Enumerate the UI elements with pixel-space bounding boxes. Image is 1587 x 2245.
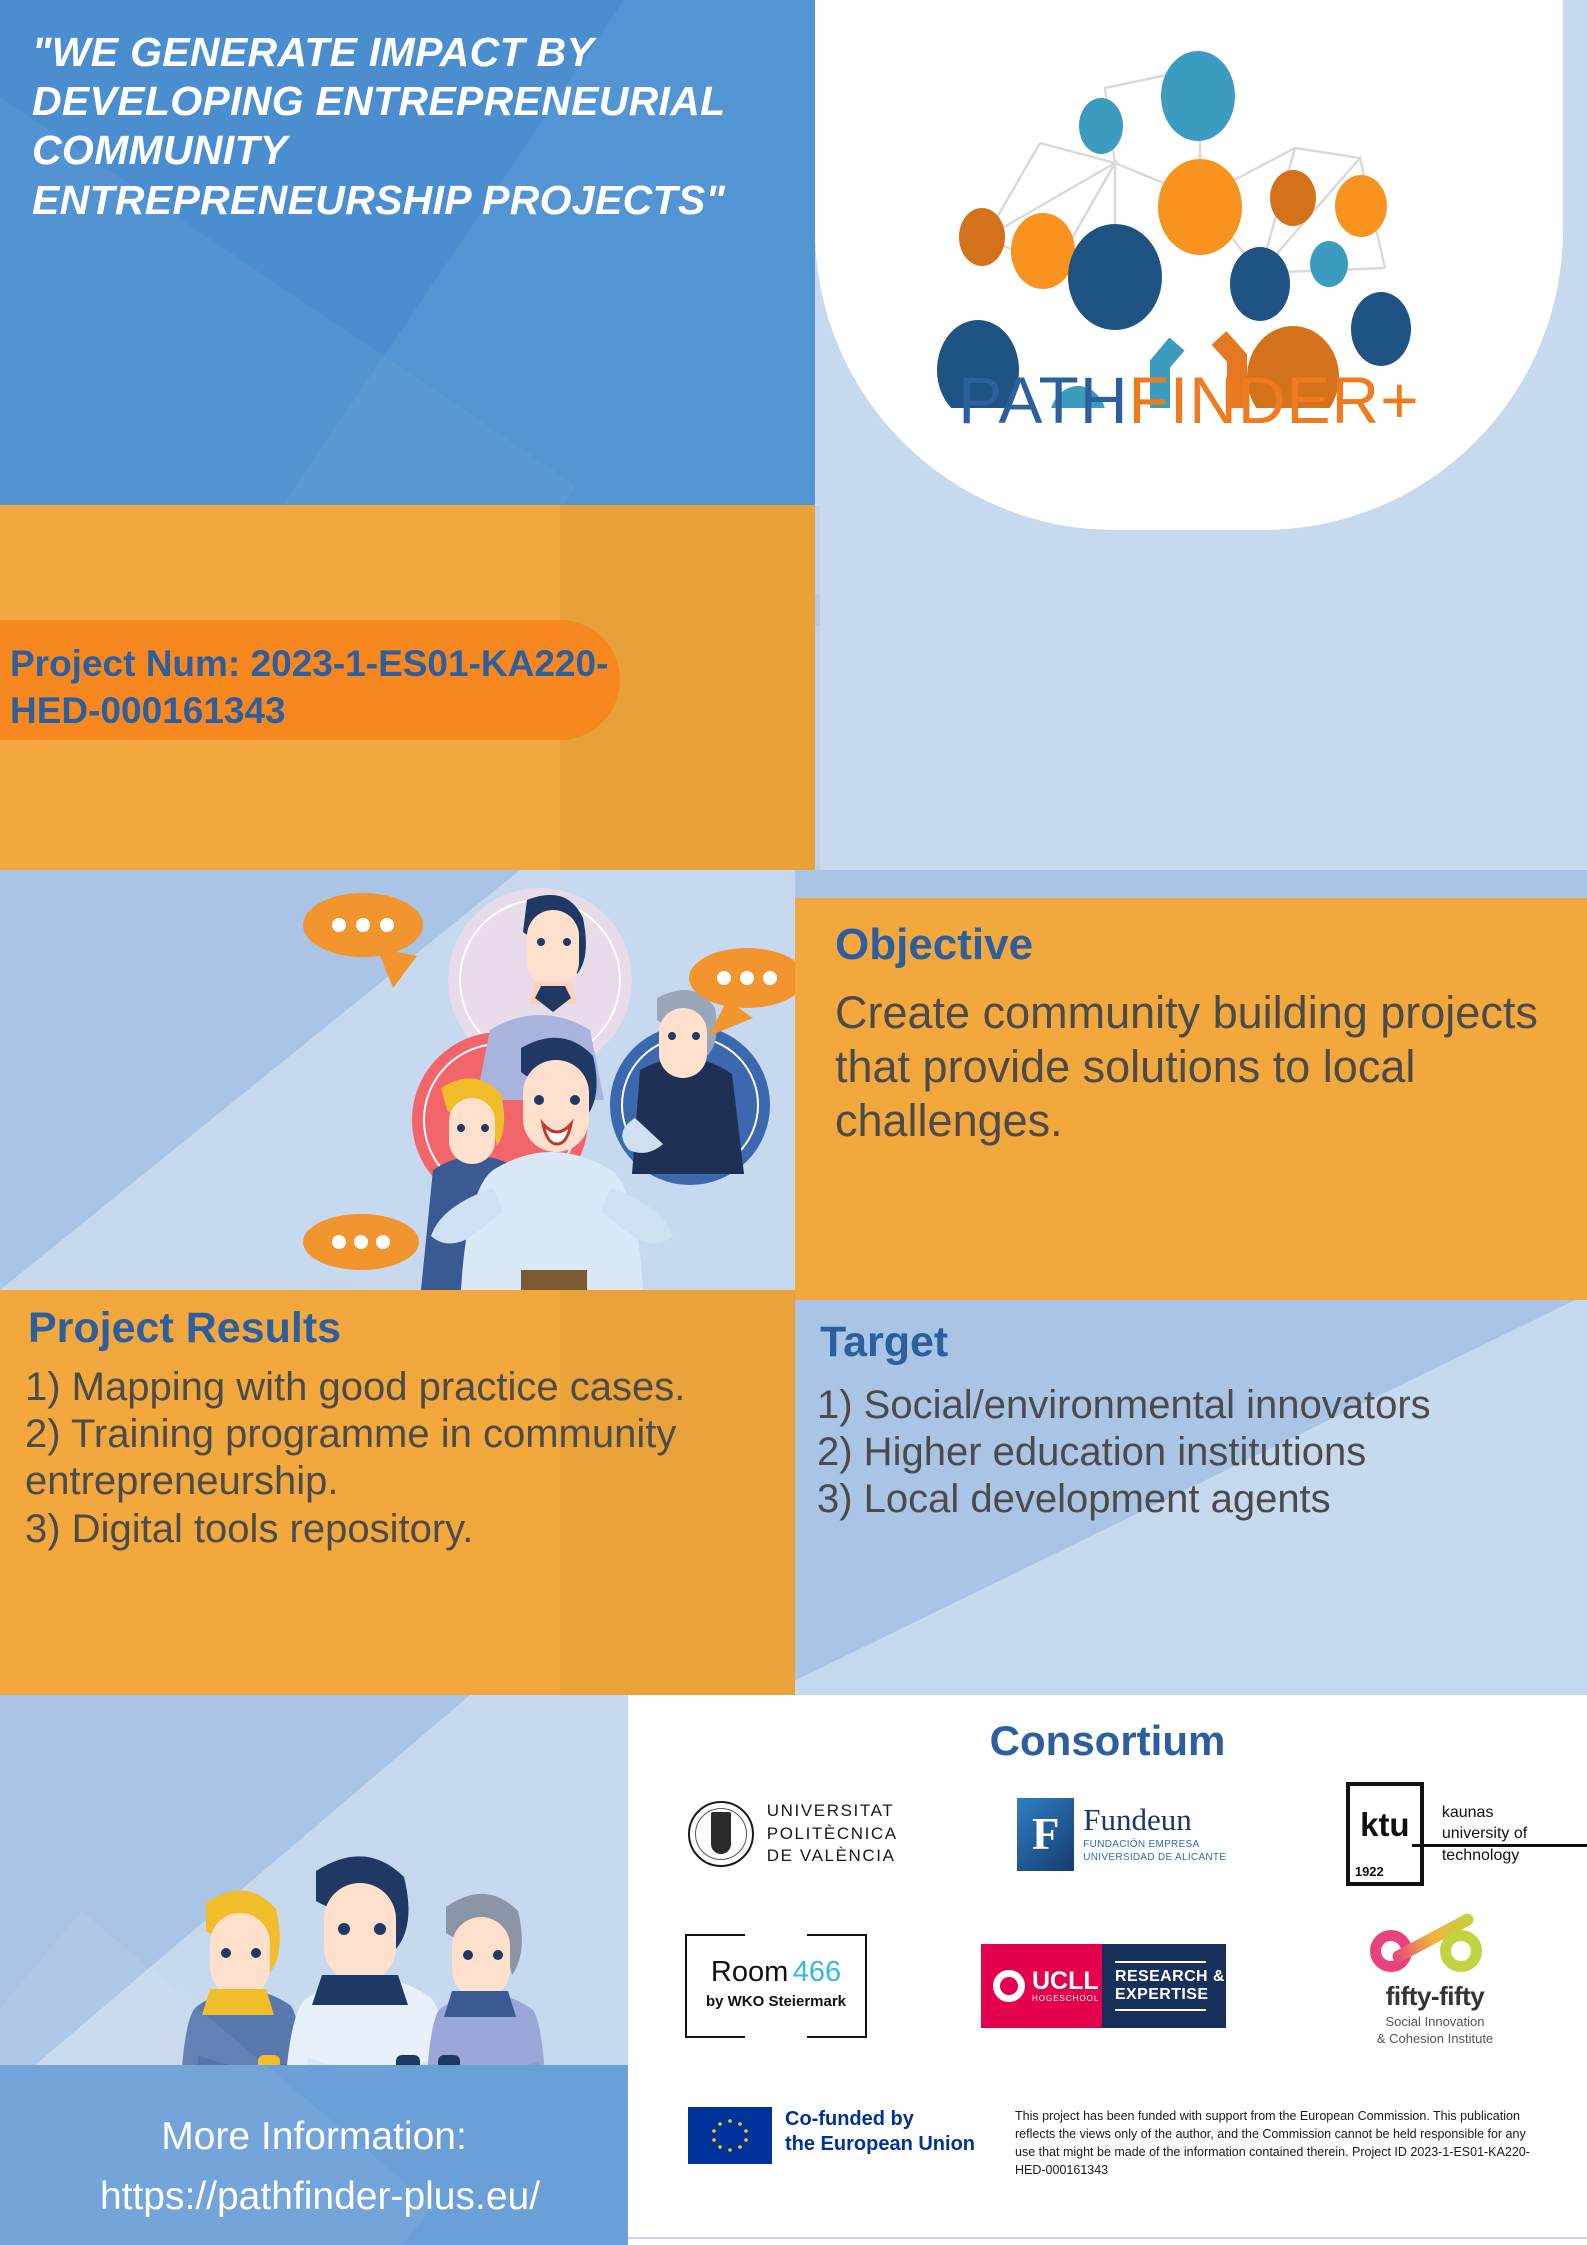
fiftyfifty-sub-1: Social Innovation (1340, 2014, 1530, 2031)
target-title: Target (820, 1318, 948, 1367)
room466-word: Room (711, 1956, 788, 1988)
more-information-label: More Information: (0, 2115, 628, 2159)
eu-funding-line-2: the European Union (785, 2132, 975, 2157)
consortium-logo-row-2: Room 466 by WKO Steiermark UCLL HOGESCHO… (628, 1927, 1587, 2045)
eu-funding-row: Co-funded by the European Union This pro… (628, 2107, 1587, 2180)
fundeun-sub-2: UNIVERSIDAD DE ALICANTE (1083, 1852, 1226, 1865)
target-panel: Target 1) Social/environmental innovator… (795, 1300, 1587, 1695)
poster: "WE GENERATE IMPACT BY DEVELOPING ENTREP… (0, 0, 1587, 2245)
upv-line-2: POLITÈCNICA (767, 1823, 898, 1845)
project-results-body: 1) Mapping with good practice cases. 2) … (25, 1364, 805, 1553)
ucll-right-2: EXPERTISE (1115, 1986, 1208, 2003)
partner-logo-fundeun: F Fundeun FUNDACIÓN EMPRESA UNIVERSIDAD … (1017, 1798, 1226, 1871)
people-talking-illustration (235, 870, 795, 1290)
row3-cap (795, 870, 1587, 898)
ktu-line-2: university of (1442, 1823, 1527, 1844)
room466-sub: by WKO Steiermark (685, 1993, 867, 2010)
community-illustration-panel (0, 870, 795, 1290)
objective-body: Create community building projects that … (835, 986, 1555, 1148)
ktu-mark: ktu (1350, 1808, 1420, 1841)
logo-panel: PATHFINDER+ (815, 0, 1563, 530)
headline-text: "WE GENERATE IMPACT BY DEVELOPING ENTREP… (32, 28, 732, 225)
fiftyfifty-name: fifty-fifty (1340, 1981, 1530, 2012)
ktu-line-3: technology (1442, 1845, 1527, 1866)
fiftyfifty-sub-2: & Cohesion Institute (1340, 2031, 1530, 2048)
room466-number: 466 (793, 1956, 841, 1988)
ktu-rule (1412, 1844, 1587, 1847)
footer-divider (628, 2237, 1587, 2239)
consortium-title: Consortium (628, 1717, 1587, 1765)
objective-panel: Objective Create community building proj… (795, 898, 1587, 1290)
target-body: 1) Social/environmental innovators 2) Hi… (817, 1382, 1577, 1524)
partner-logo-fiftyfifty: fifty-fifty Social Innovation & Cohesion… (1340, 1924, 1530, 2048)
logo-wordmark: PATHFINDER+ (815, 362, 1563, 438)
partner-logo-upv: UNIVERSITAT POLITÈCNICA DE VALÈNCIA (688, 1800, 898, 1867)
eu-flag-icon (688, 2107, 772, 2164)
logo-word-path: PATH (958, 363, 1128, 437)
fundeun-sub-1: FUNDACIÓN EMPRESA (1083, 1839, 1226, 1852)
partner-logo-ucll: UCLL HOGESCHOOL RESEARCH & EXPERTISE (981, 1944, 1226, 2028)
project-number-text: Project Num: 2023-1-ES01-KA220-HED-00016… (10, 640, 670, 735)
ktu-year: 1922 (1355, 1864, 1384, 1879)
consortium-panel: Consortium UNIVERSITAT POLITÈCNICA DE VA… (628, 1695, 1587, 2245)
logo-word-finder: FINDER+ (1129, 363, 1420, 437)
consortium-logo-row-1: UNIVERSITAT POLITÈCNICA DE VALÈNCIA F Fu… (628, 1775, 1587, 1893)
ucll-right-1: RESEARCH & (1115, 1968, 1225, 1985)
fundeun-name: Fundeun (1083, 1804, 1226, 1835)
ucll-burst-icon (993, 1970, 1025, 2002)
project-website-link[interactable]: https://pathfinder-plus.eu/ (0, 2175, 628, 2219)
more-information-panel: More Information: https://pathfinder-plu… (0, 1695, 628, 2245)
ktu-line-1: kaunas (1442, 1802, 1527, 1823)
consortium-logo-grid: UNIVERSITAT POLITÈCNICA DE VALÈNCIA F Fu… (628, 1775, 1587, 2045)
project-results-title: Project Results (28, 1304, 341, 1353)
ucll-sub: HOGESCHOOL (1032, 1994, 1099, 2003)
pathfinder-tree-logo-icon (815, 8, 1563, 528)
partner-logo-room466: Room 466 by WKO Steiermark (685, 1934, 867, 2038)
partner-logo-ktu: ktu 1922 kaunas university of technology (1346, 1782, 1527, 1886)
upv-line-3: DE VALÈNCIA (767, 1845, 898, 1867)
eu-funding-line-1: Co-funded by (785, 2107, 975, 2132)
funding-disclaimer: This project has been funded with suppor… (1015, 2107, 1535, 2180)
objective-title: Objective (835, 920, 1033, 970)
fundeun-mark-icon: F (1017, 1798, 1074, 1871)
upv-seal-icon (688, 1801, 754, 1867)
upv-line-1: UNIVERSITAT (767, 1800, 898, 1822)
fiftyfifty-infinity-icon (1340, 1924, 1530, 1979)
ucll-mark: UCLL (1032, 1969, 1099, 1994)
ktu-box-icon: ktu 1922 (1346, 1782, 1424, 1886)
